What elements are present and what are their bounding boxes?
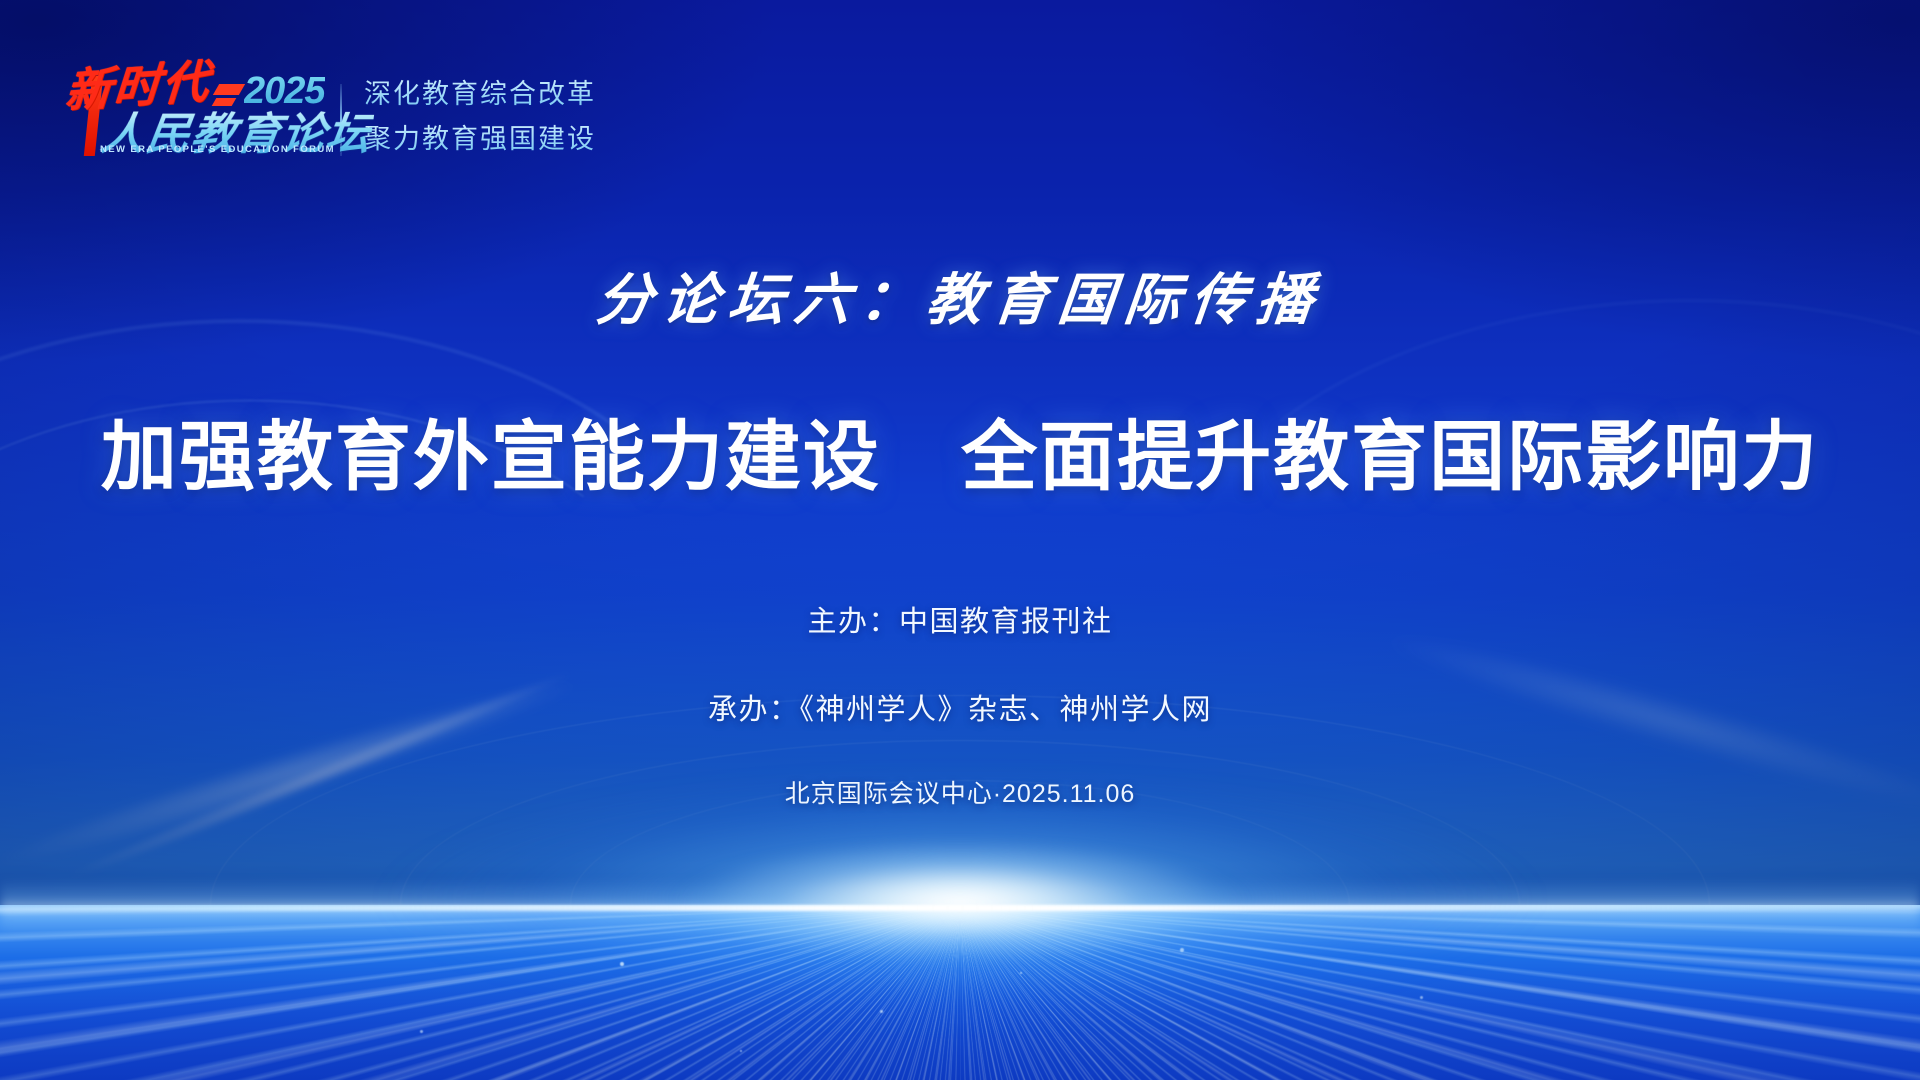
headline-part-1: 加强教育外宣能力建设 (101, 415, 881, 500)
organizer-line: 承办：《神州学人》杂志、神州学人网 (708, 686, 1212, 728)
header-logo-block: 新时代 2025 人民教育论坛 NEW ERA PEOPLE'S EDUCATI… (56, 40, 596, 162)
venue-date-line: 北京国际会议中心·2025.11.06 (785, 774, 1136, 810)
header-slogan: 深化教育综合改革 聚力教育强国建设 (364, 72, 596, 162)
forum-session-title: 分论坛六：教育国际传播 (0, 255, 1920, 336)
slogan-line-2: 聚力教育强国建设 (364, 117, 596, 156)
event-info-block: 主办：中国教育报刊社 承办：《神州学人》杂志、神州学人网 北京国际会议中心·20… (0, 598, 1920, 810)
forum-logo: 新时代 2025 人民教育论坛 NEW ERA PEOPLE'S EDUCATI… (56, 40, 328, 162)
page-title: 加强教育外宣能力建设 全面提升教育国际影响力 (0, 395, 1920, 505)
logo-english-name: NEW ERA PEOPLE'S EDUCATION FORUM (100, 144, 335, 155)
host-line: 主办：中国教育报刊社 (807, 598, 1112, 640)
logo-accent-slash (213, 84, 245, 95)
slogan-line-1: 深化教育综合改革 (364, 72, 596, 111)
forum-backdrop-stage: 新时代 2025 人民教育论坛 NEW ERA PEOPLE'S EDUCATI… (0, 0, 1920, 1080)
headline-part-2: 全面提升教育国际影响力 (961, 415, 1819, 500)
floor-particles (0, 900, 1920, 1080)
